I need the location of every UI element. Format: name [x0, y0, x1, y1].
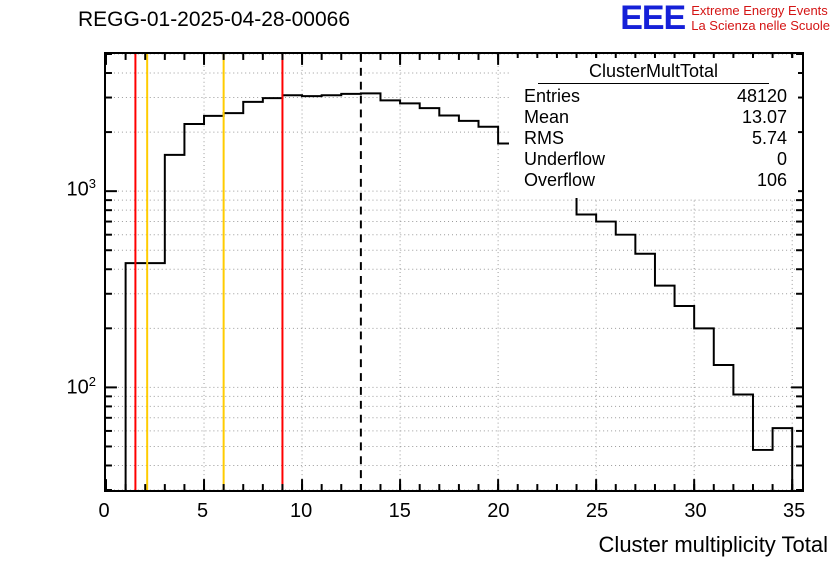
stats-row-value: 106 — [757, 170, 787, 191]
x-axis-title: Cluster multiplicity Total — [599, 532, 828, 558]
chart-canvas: REGG-01-2025-04-28-00066 EEE Extreme Ene… — [0, 0, 836, 572]
stats-row-label: Mean — [524, 107, 569, 128]
x-tick-label: 0 — [98, 500, 109, 523]
stats-box: ClusterMultTotal Entries48120Mean13.07RM… — [509, 58, 798, 198]
stats-row: Entries48120 — [510, 86, 797, 107]
y-tick-label: 102 — [30, 374, 96, 400]
x-tick-label: 25 — [586, 500, 608, 523]
x-tick-label: 30 — [684, 500, 706, 523]
y-tick-label: 103 — [30, 176, 96, 202]
stats-row: Mean13.07 — [510, 107, 797, 128]
x-tick-label: 15 — [389, 500, 411, 523]
stats-row-label: RMS — [524, 128, 564, 149]
x-tick-label: 20 — [487, 500, 509, 523]
stats-title: ClusterMultTotal — [538, 59, 769, 84]
eee-logo: EEE Extreme Energy Events La Scienza nel… — [620, 2, 830, 34]
x-tick-label: 5 — [197, 500, 208, 523]
eee-logo-text: Extreme Energy Events La Scienza nelle S… — [691, 3, 830, 33]
stats-row: Underflow0 — [510, 149, 797, 170]
stats-row-value: 48120 — [737, 86, 787, 107]
stats-row: RMS5.74 — [510, 128, 797, 149]
eee-logo-line1: Extreme Energy Events — [691, 3, 830, 18]
stats-row-value: 0 — [777, 149, 787, 170]
x-tick-label: 35 — [783, 500, 805, 523]
stats-row: Overflow106 — [510, 170, 797, 191]
x-tick-label: 10 — [290, 500, 312, 523]
page-title: REGG-01-2025-04-28-00066 — [78, 8, 350, 32]
stats-row-value: 13.07 — [742, 107, 787, 128]
eee-logo-line2: La Scienza nelle Scuole — [691, 18, 830, 33]
stats-row-label: Overflow — [524, 170, 595, 191]
stats-row-label: Entries — [524, 86, 580, 107]
stats-row-value: 5.74 — [752, 128, 787, 149]
eee-logo-mark: EEE — [620, 2, 685, 34]
stats-row-label: Underflow — [524, 149, 605, 170]
